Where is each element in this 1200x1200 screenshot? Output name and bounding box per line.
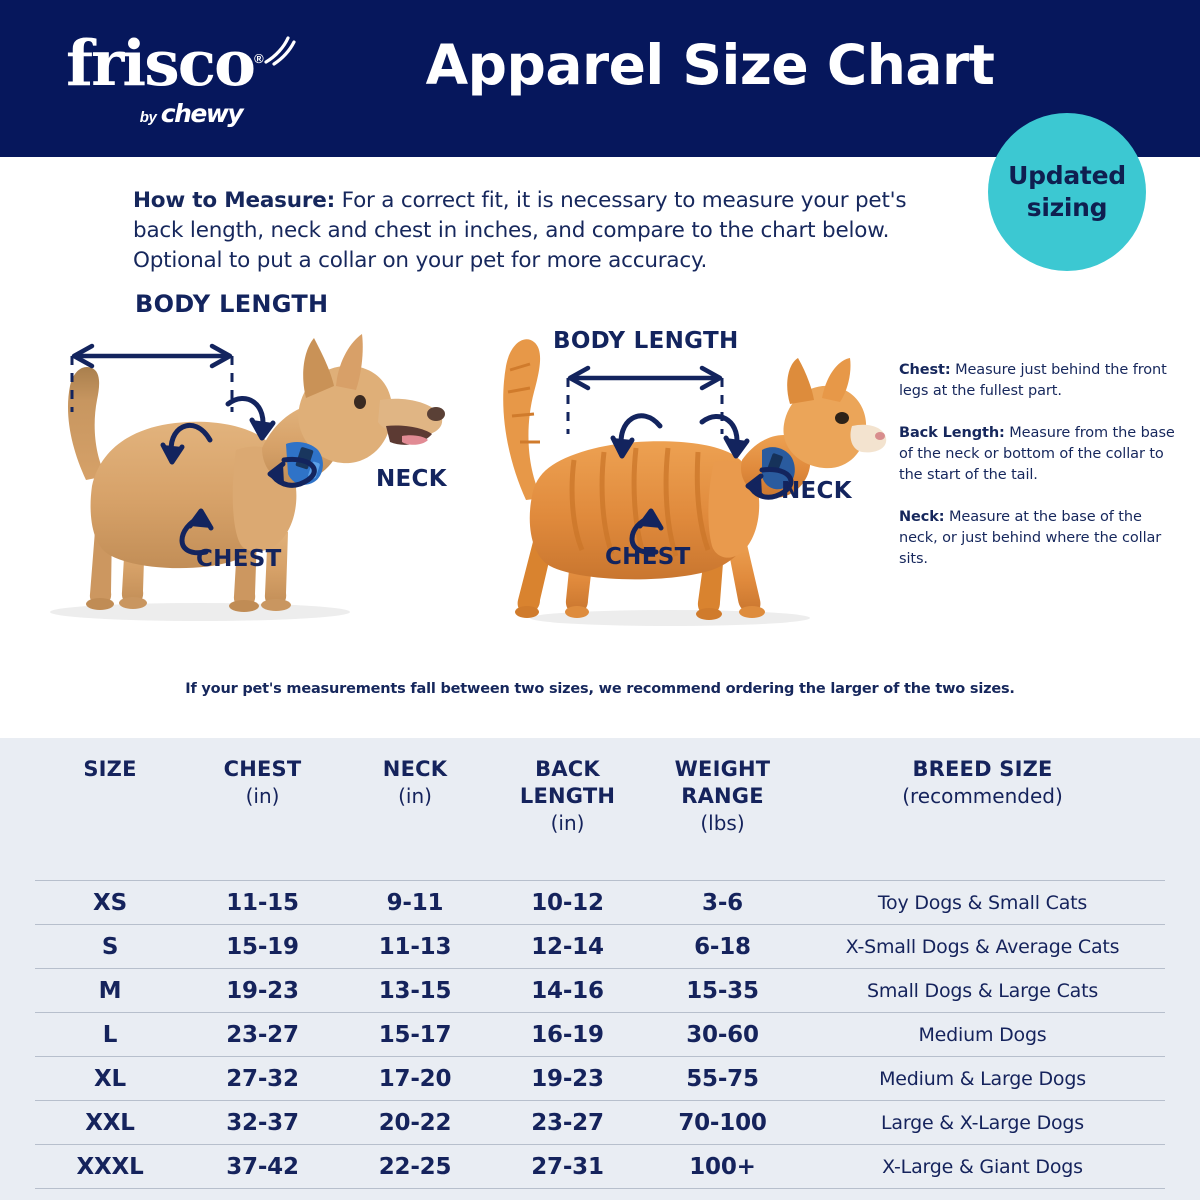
cell-weight: 6-18 xyxy=(645,925,800,969)
cell-neck: 22-25 xyxy=(340,1145,490,1189)
cell-neck: 15-17 xyxy=(340,1013,490,1057)
dog-chest-label: CHEST xyxy=(196,546,282,572)
column-header-size: SIZE xyxy=(35,738,185,881)
table-row: XXL 32-37 20-22 23-27 70-100 Large & X-L… xyxy=(35,1101,1165,1145)
cell-size: XXXL xyxy=(35,1145,185,1189)
cell-size: S xyxy=(35,925,185,969)
logo-byline: by chewy xyxy=(66,99,316,128)
cell-breed: Small Dogs & Large Cats xyxy=(800,969,1165,1013)
logo-chewy-text: chewy xyxy=(161,99,242,128)
swoosh-icon xyxy=(262,36,296,66)
table-row: S 15-19 11-13 12-14 6-18 X-Small Dogs & … xyxy=(35,925,1165,969)
cell-size: L xyxy=(35,1013,185,1057)
cell-breed: Medium & Large Dogs xyxy=(800,1057,1165,1101)
logo-wordmark: frisco® xyxy=(66,26,326,96)
table-row: M 19-23 13-15 14-16 15-35 Small Dogs & L… xyxy=(35,969,1165,1013)
cell-weight: 100+ xyxy=(645,1145,800,1189)
cell-weight: 70-100 xyxy=(645,1101,800,1145)
cell-breed: Toy Dogs & Small Cats xyxy=(800,881,1165,925)
table-row: XS 11-15 9-11 10-12 3-6 Toy Dogs & Small… xyxy=(35,881,1165,925)
cell-back: 19-23 xyxy=(490,1057,645,1101)
logo-by-text: by xyxy=(140,109,157,126)
cell-breed: X-Small Dogs & Average Cats xyxy=(800,925,1165,969)
cell-back: 12-14 xyxy=(490,925,645,969)
size-table-section: SIZE CHEST (in) NECK (in) BACK LENGTH (i… xyxy=(0,738,1200,1200)
cell-chest: 23-27 xyxy=(185,1013,340,1057)
cell-neck: 17-20 xyxy=(340,1057,490,1101)
definition-chest: Chest: Measure just behind the front leg… xyxy=(899,360,1184,402)
size-table-body: XS 11-15 9-11 10-12 3-6 Toy Dogs & Small… xyxy=(35,881,1165,1189)
cell-back: 10-12 xyxy=(490,881,645,925)
cell-back: 27-31 xyxy=(490,1145,645,1189)
column-header-weight-range: WEIGHT RANGE (lbs) xyxy=(645,738,800,881)
cell-back: 16-19 xyxy=(490,1013,645,1057)
cell-breed: X-Large & Giant Dogs xyxy=(800,1145,1165,1189)
cell-neck: 11-13 xyxy=(340,925,490,969)
definition-neck: Neck: Measure at the base of the neck, o… xyxy=(899,507,1184,570)
registered-mark-icon: ® xyxy=(254,51,264,66)
cell-chest: 15-19 xyxy=(185,925,340,969)
frisco-logo: frisco® by chewy xyxy=(66,26,326,136)
how-to-measure-label: How to Measure: xyxy=(133,188,335,213)
cell-size: XXL xyxy=(35,1101,185,1145)
size-table-head: SIZE CHEST (in) NECK (in) BACK LENGTH (i… xyxy=(35,738,1165,881)
cell-neck: 13-15 xyxy=(340,969,490,1013)
cell-neck: 20-22 xyxy=(340,1101,490,1145)
cat-body-length-label: BODY LENGTH xyxy=(553,328,739,354)
cell-back: 14-16 xyxy=(490,969,645,1013)
updated-sizing-badge: Updated sizing xyxy=(988,113,1146,271)
table-row: XXXL 37-42 22-25 27-31 100+ X-Large & Gi… xyxy=(35,1145,1165,1189)
definition-back-length: Back Length: Measure from the base of th… xyxy=(899,423,1184,486)
cell-chest: 11-15 xyxy=(185,881,340,925)
cell-chest: 32-37 xyxy=(185,1101,340,1145)
cat-chest-label: CHEST xyxy=(605,544,691,570)
dog-body-length-label: BODY LENGTH xyxy=(135,290,328,318)
badge-line-2: sizing xyxy=(1027,192,1107,224)
cell-weight: 3-6 xyxy=(645,881,800,925)
dog-neck-label: NECK xyxy=(376,466,447,492)
table-row: XL 27-32 17-20 19-23 55-75 Medium & Larg… xyxy=(35,1057,1165,1101)
logo-wordmark-text: frisco xyxy=(66,26,254,100)
page-title: Apparel Size Chart xyxy=(400,33,1020,97)
size-table-header-row: SIZE CHEST (in) NECK (in) BACK LENGTH (i… xyxy=(35,738,1165,881)
badge-line-1: Updated xyxy=(1008,160,1126,192)
cell-back: 23-27 xyxy=(490,1101,645,1145)
cell-size: XL xyxy=(35,1057,185,1101)
cell-weight: 15-35 xyxy=(645,969,800,1013)
cell-weight: 55-75 xyxy=(645,1057,800,1101)
column-header-chest: CHEST (in) xyxy=(185,738,340,881)
how-to-measure-paragraph: How to Measure: For a correct fit, it is… xyxy=(133,186,953,276)
cell-breed: Medium Dogs xyxy=(800,1013,1165,1057)
cell-breed: Large & X-Large Dogs xyxy=(800,1101,1165,1145)
cell-chest: 19-23 xyxy=(185,969,340,1013)
cell-size: XS xyxy=(35,881,185,925)
column-header-back-length: BACK LENGTH (in) xyxy=(490,738,645,881)
column-header-neck: NECK (in) xyxy=(340,738,490,881)
between-sizes-note: If your pet's measurements fall between … xyxy=(0,681,1200,697)
size-table: SIZE CHEST (in) NECK (in) BACK LENGTH (i… xyxy=(35,738,1165,1189)
cell-chest: 27-32 xyxy=(185,1057,340,1101)
definition-neck-term: Neck: xyxy=(899,509,945,525)
cell-chest: 37-42 xyxy=(185,1145,340,1189)
cell-neck: 9-11 xyxy=(340,881,490,925)
definition-chest-term: Chest: xyxy=(899,362,951,378)
cat-neck-label: NECK xyxy=(781,478,852,504)
column-header-breed-size: BREED SIZE (recommended) xyxy=(800,738,1165,881)
cell-weight: 30-60 xyxy=(645,1013,800,1057)
definition-back-length-term: Back Length: xyxy=(899,425,1005,441)
measurement-definitions: Chest: Measure just behind the front leg… xyxy=(899,360,1184,591)
table-row: L 23-27 15-17 16-19 30-60 Medium Dogs xyxy=(35,1013,1165,1057)
cell-size: M xyxy=(35,969,185,1013)
